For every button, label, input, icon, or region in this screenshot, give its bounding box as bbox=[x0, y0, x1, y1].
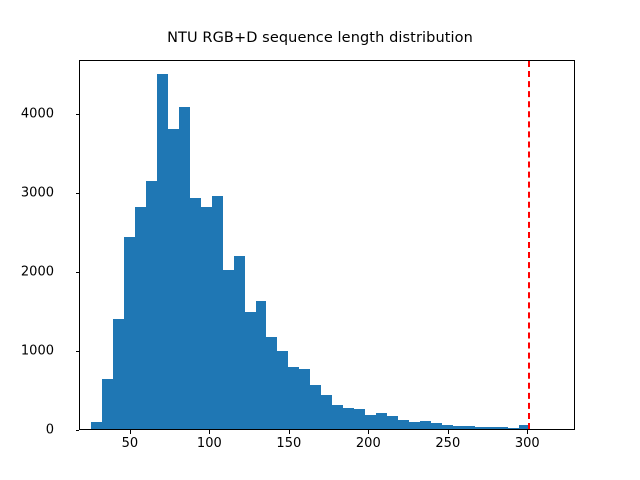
histogram-bar bbox=[398, 420, 409, 429]
histogram-bar bbox=[453, 426, 464, 429]
y-axis-tick-label: 3000 bbox=[21, 186, 54, 201]
x-axis-tick-label: 200 bbox=[356, 436, 381, 451]
x-axis-tick-mark bbox=[527, 430, 528, 434]
histogram-bar bbox=[387, 416, 398, 429]
histogram-bar bbox=[212, 196, 223, 429]
histogram-bar bbox=[486, 427, 497, 429]
histogram-bar bbox=[201, 207, 212, 429]
histogram-bar bbox=[464, 426, 475, 429]
histogram-bar bbox=[475, 427, 486, 429]
x-axis-tick-mark bbox=[448, 430, 449, 434]
histogram-bar bbox=[190, 198, 201, 429]
histogram-bar bbox=[135, 207, 146, 429]
x-axis-tick-mark bbox=[209, 430, 210, 434]
y-axis-tick-label: 4000 bbox=[21, 107, 54, 122]
histogram-bar bbox=[113, 319, 124, 429]
x-axis-tick-label: 250 bbox=[435, 436, 460, 451]
histogram-bar bbox=[343, 408, 354, 429]
histogram-bar bbox=[91, 422, 102, 429]
histogram-bar bbox=[168, 129, 179, 429]
y-axis-tick-label: 1000 bbox=[21, 344, 54, 359]
histogram-bar bbox=[321, 395, 332, 429]
figure-canvas: NTU RGB+D sequence length distribution 0… bbox=[0, 0, 640, 480]
histogram-bar bbox=[277, 351, 288, 429]
histogram-bar bbox=[299, 369, 310, 429]
x-axis-tick-mark bbox=[130, 430, 131, 434]
x-axis-tick-mark bbox=[289, 430, 290, 434]
y-axis-tick-label: 0 bbox=[46, 423, 54, 438]
x-axis-tick-label: 150 bbox=[276, 436, 301, 451]
histogram-bar bbox=[420, 421, 431, 429]
y-axis-tick-label: 2000 bbox=[21, 265, 54, 280]
threshold-line-300 bbox=[528, 61, 530, 429]
histogram-bar bbox=[288, 367, 299, 429]
x-axis-tick-mark bbox=[368, 430, 369, 434]
x-axis-tick-label: 50 bbox=[122, 436, 139, 451]
histogram-bar bbox=[256, 301, 267, 429]
histogram-bar bbox=[234, 256, 245, 429]
histogram-bar bbox=[409, 422, 420, 429]
y-axis-tick-mark bbox=[76, 430, 80, 431]
histogram-bar bbox=[146, 181, 157, 430]
histogram-plot-area bbox=[80, 61, 574, 429]
histogram-bar bbox=[376, 413, 387, 429]
histogram-bar bbox=[102, 379, 113, 429]
histogram-bar bbox=[310, 385, 321, 429]
histogram-bar bbox=[223, 270, 234, 429]
histogram-bar bbox=[332, 405, 343, 429]
chart-title: NTU RGB+D sequence length distribution bbox=[0, 30, 640, 46]
histogram-bar bbox=[497, 427, 508, 429]
histogram-bar bbox=[354, 409, 365, 430]
histogram-bar bbox=[157, 74, 168, 429]
x-axis-tick-label: 100 bbox=[197, 436, 222, 451]
x-axis-tick-label: 300 bbox=[515, 436, 540, 451]
histogram-bar bbox=[124, 237, 135, 429]
histogram-bar bbox=[179, 107, 190, 429]
histogram-bar bbox=[365, 415, 376, 429]
plot-axes-frame bbox=[79, 60, 575, 430]
histogram-bar bbox=[508, 428, 519, 429]
histogram-bar bbox=[245, 312, 256, 429]
histogram-bar bbox=[431, 423, 442, 429]
histogram-bar bbox=[442, 425, 453, 429]
histogram-bar bbox=[266, 337, 277, 429]
